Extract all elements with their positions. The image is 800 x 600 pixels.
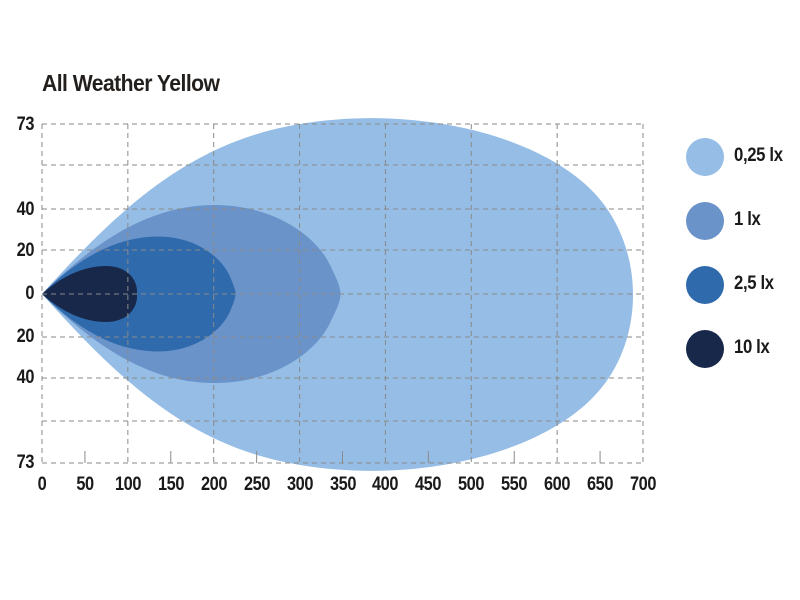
legend-item-1[interactable]: 1 lx	[686, 202, 798, 266]
x-axis-label-14: 700	[617, 474, 669, 496]
legend-item-2[interactable]: 2,5 lx	[686, 266, 798, 330]
legend-label-0: 0,25 lx	[734, 145, 783, 167]
plot-area	[0, 0, 800, 600]
legend-swatch-icon-0	[686, 138, 724, 176]
chart-legend: 0,25 lx 1 lx 2,5 lx 10 lx	[686, 138, 798, 394]
legend-item-3[interactable]: 10 lx	[686, 330, 798, 394]
legend-item-0[interactable]: 0,25 lx	[686, 138, 798, 202]
legend-swatch-icon-1	[686, 202, 724, 240]
legend-label-3: 10 lx	[734, 337, 769, 359]
legend-label-2: 2,5 lx	[734, 273, 774, 295]
axis-ticks	[85, 451, 600, 463]
legend-label-1: 1 lx	[734, 209, 760, 231]
legend-swatch-icon-3	[686, 330, 724, 368]
legend-swatch-icon-2	[686, 266, 724, 304]
light-distribution-chart: All Weather Yellow 73 40 20 0 20 40 73 0…	[0, 0, 800, 600]
